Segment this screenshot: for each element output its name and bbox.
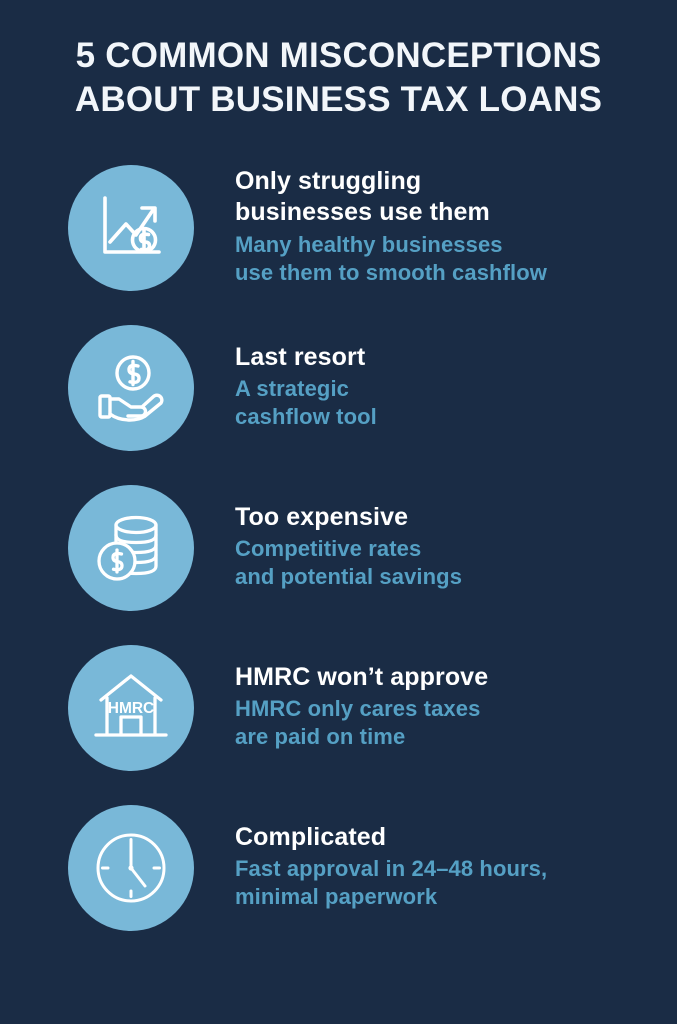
list-item: Only struggling businesses use them Many… bbox=[0, 148, 677, 308]
list-item: Complicated Fast approval in 24–48 hours… bbox=[0, 788, 677, 948]
infographic-poster: 5 COMMON MISCONCEPTIONS ABOUT BUSINESS T… bbox=[0, 0, 677, 1024]
item-subtext: A strategic cashflow tool bbox=[235, 375, 377, 431]
item-subtext-line-2: are paid on time bbox=[235, 723, 488, 751]
item-heading-line-1: Last resort bbox=[235, 342, 377, 374]
misconception-list: Only struggling businesses use them Many… bbox=[0, 148, 677, 948]
item-heading-line-1: Too expensive bbox=[235, 502, 462, 534]
hand-holding-coin-icon bbox=[92, 349, 170, 427]
item-heading-line-1: Only struggling bbox=[235, 166, 547, 198]
list-item: HMRC HMRC won’t approve HMRC only cares … bbox=[0, 628, 677, 788]
item-subtext: HMRC only cares taxes are paid on time bbox=[235, 695, 488, 751]
icon-badge: HMRC bbox=[68, 645, 194, 771]
item-subtext-line-1: Competitive rates bbox=[235, 535, 462, 563]
item-text: Last resort A strategic cashflow tool bbox=[235, 342, 377, 434]
title-line-1: 5 COMMON MISCONCEPTIONS bbox=[28, 34, 649, 78]
item-subtext-line-2: minimal paperwork bbox=[235, 883, 547, 911]
item-subtext-line-2: and potential savings bbox=[235, 563, 462, 591]
icon-badge bbox=[68, 165, 194, 291]
clock-icon bbox=[91, 828, 171, 908]
item-heading: HMRC won’t approve bbox=[235, 662, 488, 694]
item-subtext: Competitive rates and potential savings bbox=[235, 535, 462, 591]
item-heading: Too expensive bbox=[235, 502, 462, 534]
icon-badge bbox=[68, 325, 194, 451]
item-heading-line-2: businesses use them bbox=[235, 197, 547, 229]
item-heading: Complicated bbox=[235, 822, 547, 854]
item-heading-line-1: HMRC won’t approve bbox=[235, 662, 488, 694]
coin-stack-icon bbox=[94, 511, 168, 585]
item-heading: Only struggling businesses use them bbox=[235, 166, 547, 229]
item-text: Only struggling businesses use them Many… bbox=[235, 166, 547, 289]
item-subtext-line-1: Fast approval in 24–48 hours, bbox=[235, 855, 547, 883]
item-subtext-line-1: HMRC only cares taxes bbox=[235, 695, 488, 723]
item-subtext-line-1: A strategic bbox=[235, 375, 377, 403]
item-subtext-line-1: Many healthy businesses bbox=[235, 231, 547, 259]
item-subtext-line-2: cashflow tool bbox=[235, 403, 377, 431]
item-text: HMRC won’t approve HMRC only cares taxes… bbox=[235, 662, 488, 754]
item-heading-line-1: Complicated bbox=[235, 822, 547, 854]
icon-badge bbox=[68, 485, 194, 611]
hmrc-icon-label: HMRC bbox=[108, 700, 155, 717]
title-line-2: ABOUT BUSINESS TAX LOANS bbox=[28, 78, 649, 122]
item-subtext: Many healthy businesses use them to smoo… bbox=[235, 231, 547, 287]
item-text: Complicated Fast approval in 24–48 hours… bbox=[235, 822, 547, 914]
hmrc-building-icon: HMRC bbox=[91, 670, 171, 746]
item-subtext: Fast approval in 24–48 hours, minimal pa… bbox=[235, 855, 547, 911]
growth-chart-dollar-icon bbox=[93, 190, 169, 266]
list-item: Last resort A strategic cashflow tool bbox=[0, 308, 677, 468]
icon-badge bbox=[68, 805, 194, 931]
page-title: 5 COMMON MISCONCEPTIONS ABOUT BUSINESS T… bbox=[0, 34, 677, 122]
list-item: Too expensive Competitive rates and pote… bbox=[0, 468, 677, 628]
item-heading: Last resort bbox=[235, 342, 377, 374]
item-subtext-line-2: use them to smooth cashflow bbox=[235, 259, 547, 287]
item-text: Too expensive Competitive rates and pote… bbox=[235, 502, 462, 594]
